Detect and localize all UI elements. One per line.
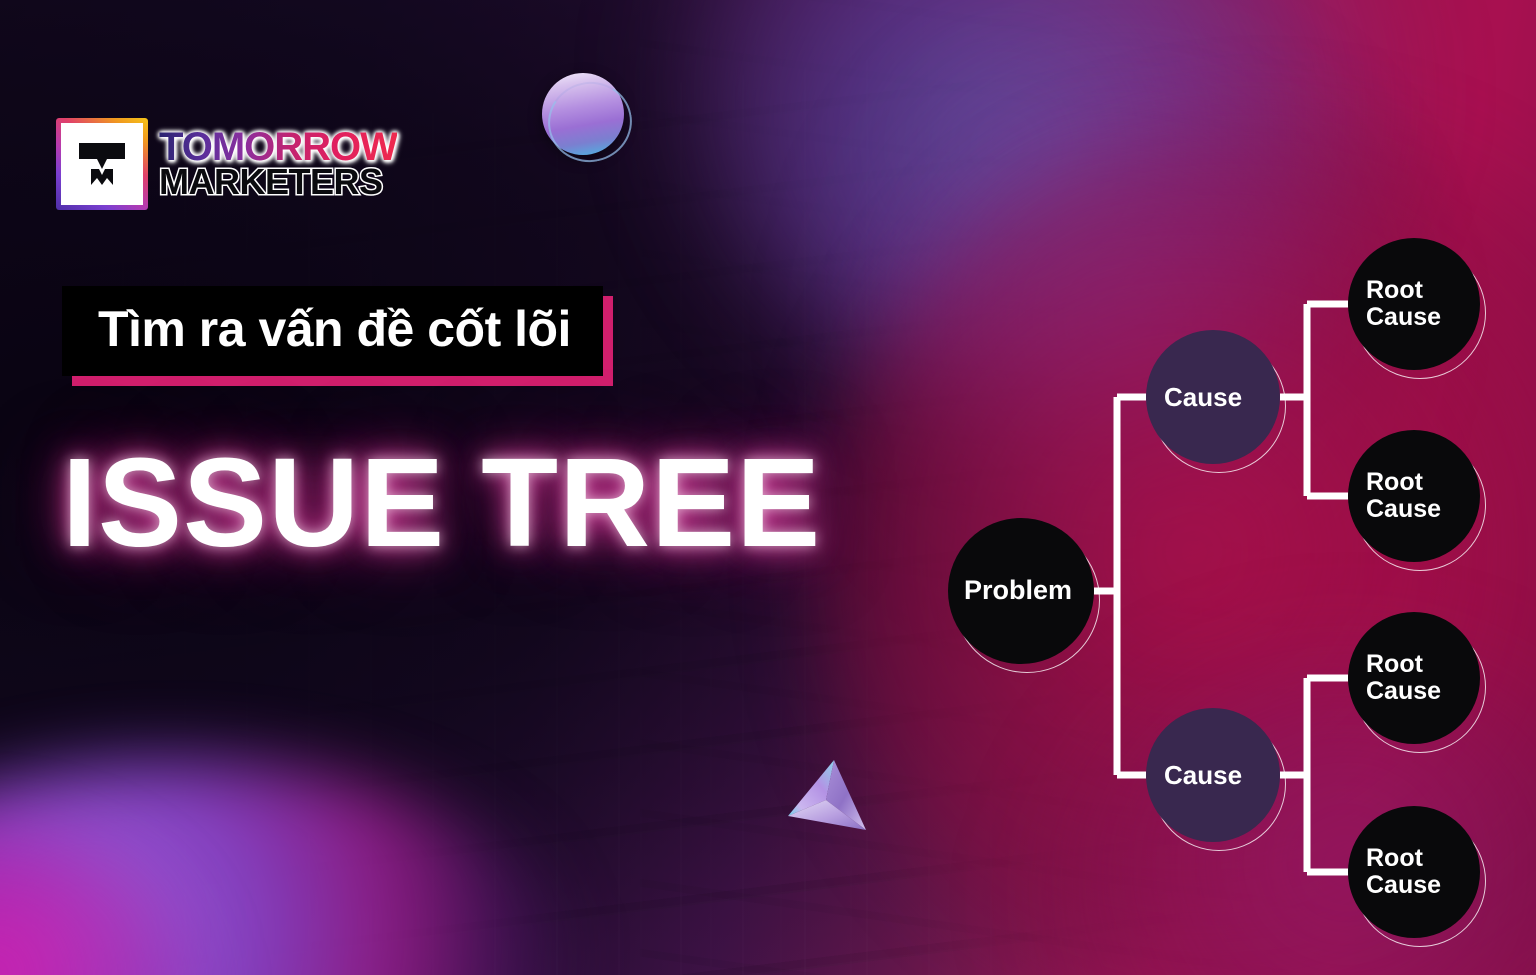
node-label: Root Cause xyxy=(1366,277,1441,331)
node-label-line1: Root xyxy=(1366,844,1423,872)
subtitle-banner: Tìm ra vấn đề cốt lõi xyxy=(62,286,603,376)
subtitle-text: Tìm ra vấn đề cốt lõi xyxy=(98,301,571,357)
logo-text-tomorrow: TOMORROW xyxy=(159,130,397,165)
node-label-line1: Root xyxy=(1366,468,1423,496)
issue-tree-node-root-cause-3[interactable]: Root Cause xyxy=(1348,612,1480,744)
node-label-line2: Cause xyxy=(1366,677,1441,705)
node-label: Root Cause xyxy=(1366,845,1441,899)
logo-text-marketers: MARKETERS xyxy=(159,166,397,198)
logo-wordmark: TOMORROW MARKETERS xyxy=(159,130,397,198)
node-label-line1: Root xyxy=(1366,276,1423,304)
node-label: Cause xyxy=(1164,761,1242,789)
node-label-line2: Cause xyxy=(1366,871,1441,899)
issue-tree-node-cause-1[interactable]: Cause xyxy=(1146,330,1280,464)
issue-tree-node-root-cause-2[interactable]: Root Cause xyxy=(1348,430,1480,562)
tm-monogram-icon xyxy=(73,135,131,193)
subtitle-box: Tìm ra vấn đề cốt lõi xyxy=(62,286,603,376)
brand-logo[interactable]: TOMORROW MARKETERS xyxy=(56,118,397,210)
node-label-line2: Cause xyxy=(1366,495,1441,523)
logo-mark xyxy=(56,118,148,210)
issue-tree-node-cause-2[interactable]: Cause xyxy=(1146,708,1280,842)
issue-tree-node-problem[interactable]: Problem xyxy=(948,518,1094,664)
node-label: Problem xyxy=(964,576,1072,605)
node-label-line2: Cause xyxy=(1366,303,1441,331)
node-label: Root Cause xyxy=(1366,469,1441,523)
slide-canvas: TOMORROW MARKETERS Tìm ra vấn đề cốt lõi… xyxy=(0,0,1536,975)
node-label: Cause xyxy=(1164,383,1242,411)
node-label: Root Cause xyxy=(1366,651,1441,705)
page-title: ISSUE TREE xyxy=(62,440,821,566)
issue-tree-node-root-cause-4[interactable]: Root Cause xyxy=(1348,806,1480,938)
node-label-line1: Root xyxy=(1366,650,1423,678)
issue-tree-node-root-cause-1[interactable]: Root Cause xyxy=(1348,238,1480,370)
gradient-tetrahedron-icon xyxy=(782,756,874,842)
